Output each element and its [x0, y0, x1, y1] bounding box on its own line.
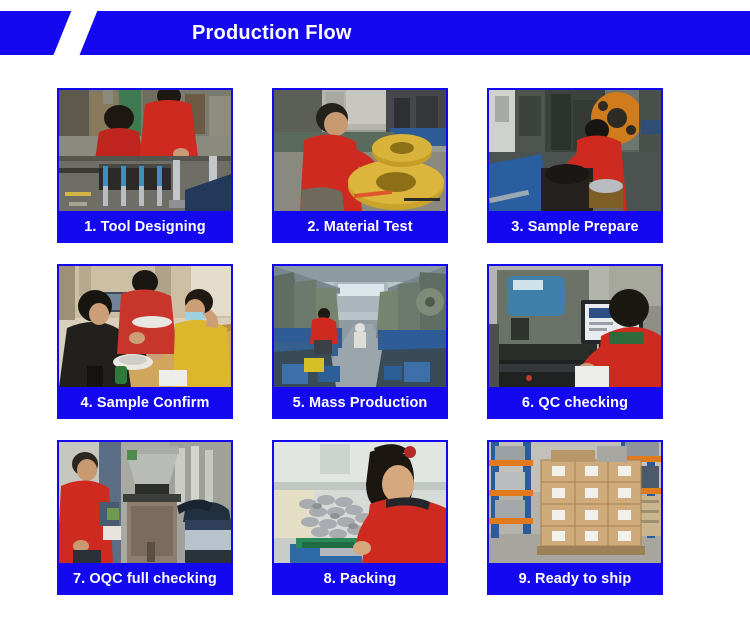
- flow-card-tool-designing[interactable]: 1. Tool Designing: [57, 88, 233, 243]
- flow-card-material-test[interactable]: 2. Material Test: [272, 88, 448, 243]
- flow-row-2: 4. Sample Confirm: [57, 264, 663, 419]
- photo-qc-checking: [489, 266, 661, 387]
- caption-material-test: 2. Material Test: [272, 211, 448, 243]
- flow-card-qc-checking[interactable]: 6. QC checking: [487, 264, 663, 419]
- caption-qc-checking: 6. QC checking: [487, 387, 663, 419]
- flow-card-sample-confirm[interactable]: 4. Sample Confirm: [57, 264, 233, 419]
- caption-ready-to-ship: 9. Ready to ship: [487, 563, 663, 595]
- flow-card-packing[interactable]: 8. Packing: [272, 440, 448, 595]
- caption-oqc-full-checking: 7. OQC full checking: [57, 563, 233, 595]
- photo-ready-to-ship: [489, 442, 661, 563]
- flow-card-ready-to-ship[interactable]: 9. Ready to ship: [487, 440, 663, 595]
- flow-row-3: 7. OQC full checking: [57, 440, 663, 595]
- flow-card-sample-prepare[interactable]: 3. Sample Prepare: [487, 88, 663, 243]
- photo-sample-prepare: [489, 90, 661, 211]
- production-flow-page: Production Flow: [0, 0, 750, 638]
- photo-material-test: [274, 90, 446, 211]
- header-banner: Production Flow: [0, 11, 750, 55]
- production-flow-grid: 1. Tool Designing: [57, 88, 663, 595]
- flow-card-oqc-full-checking[interactable]: 7. OQC full checking: [57, 440, 233, 595]
- page-title: Production Flow: [192, 11, 352, 55]
- photo-sample-confirm: [59, 266, 231, 387]
- slash-decoration-icon: [50, 11, 99, 55]
- photo-tool-designing: [59, 90, 231, 211]
- caption-sample-confirm: 4. Sample Confirm: [57, 387, 233, 419]
- caption-mass-production: 5. Mass Production: [272, 387, 448, 419]
- caption-sample-prepare: 3. Sample Prepare: [487, 211, 663, 243]
- caption-packing: 8. Packing: [272, 563, 448, 595]
- photo-mass-production: [274, 266, 446, 387]
- photo-oqc-full-checking: [59, 442, 231, 563]
- flow-card-mass-production[interactable]: 5. Mass Production: [272, 264, 448, 419]
- flow-row-1: 1. Tool Designing: [57, 88, 663, 243]
- photo-packing: [274, 442, 446, 563]
- caption-tool-designing: 1. Tool Designing: [57, 211, 233, 243]
